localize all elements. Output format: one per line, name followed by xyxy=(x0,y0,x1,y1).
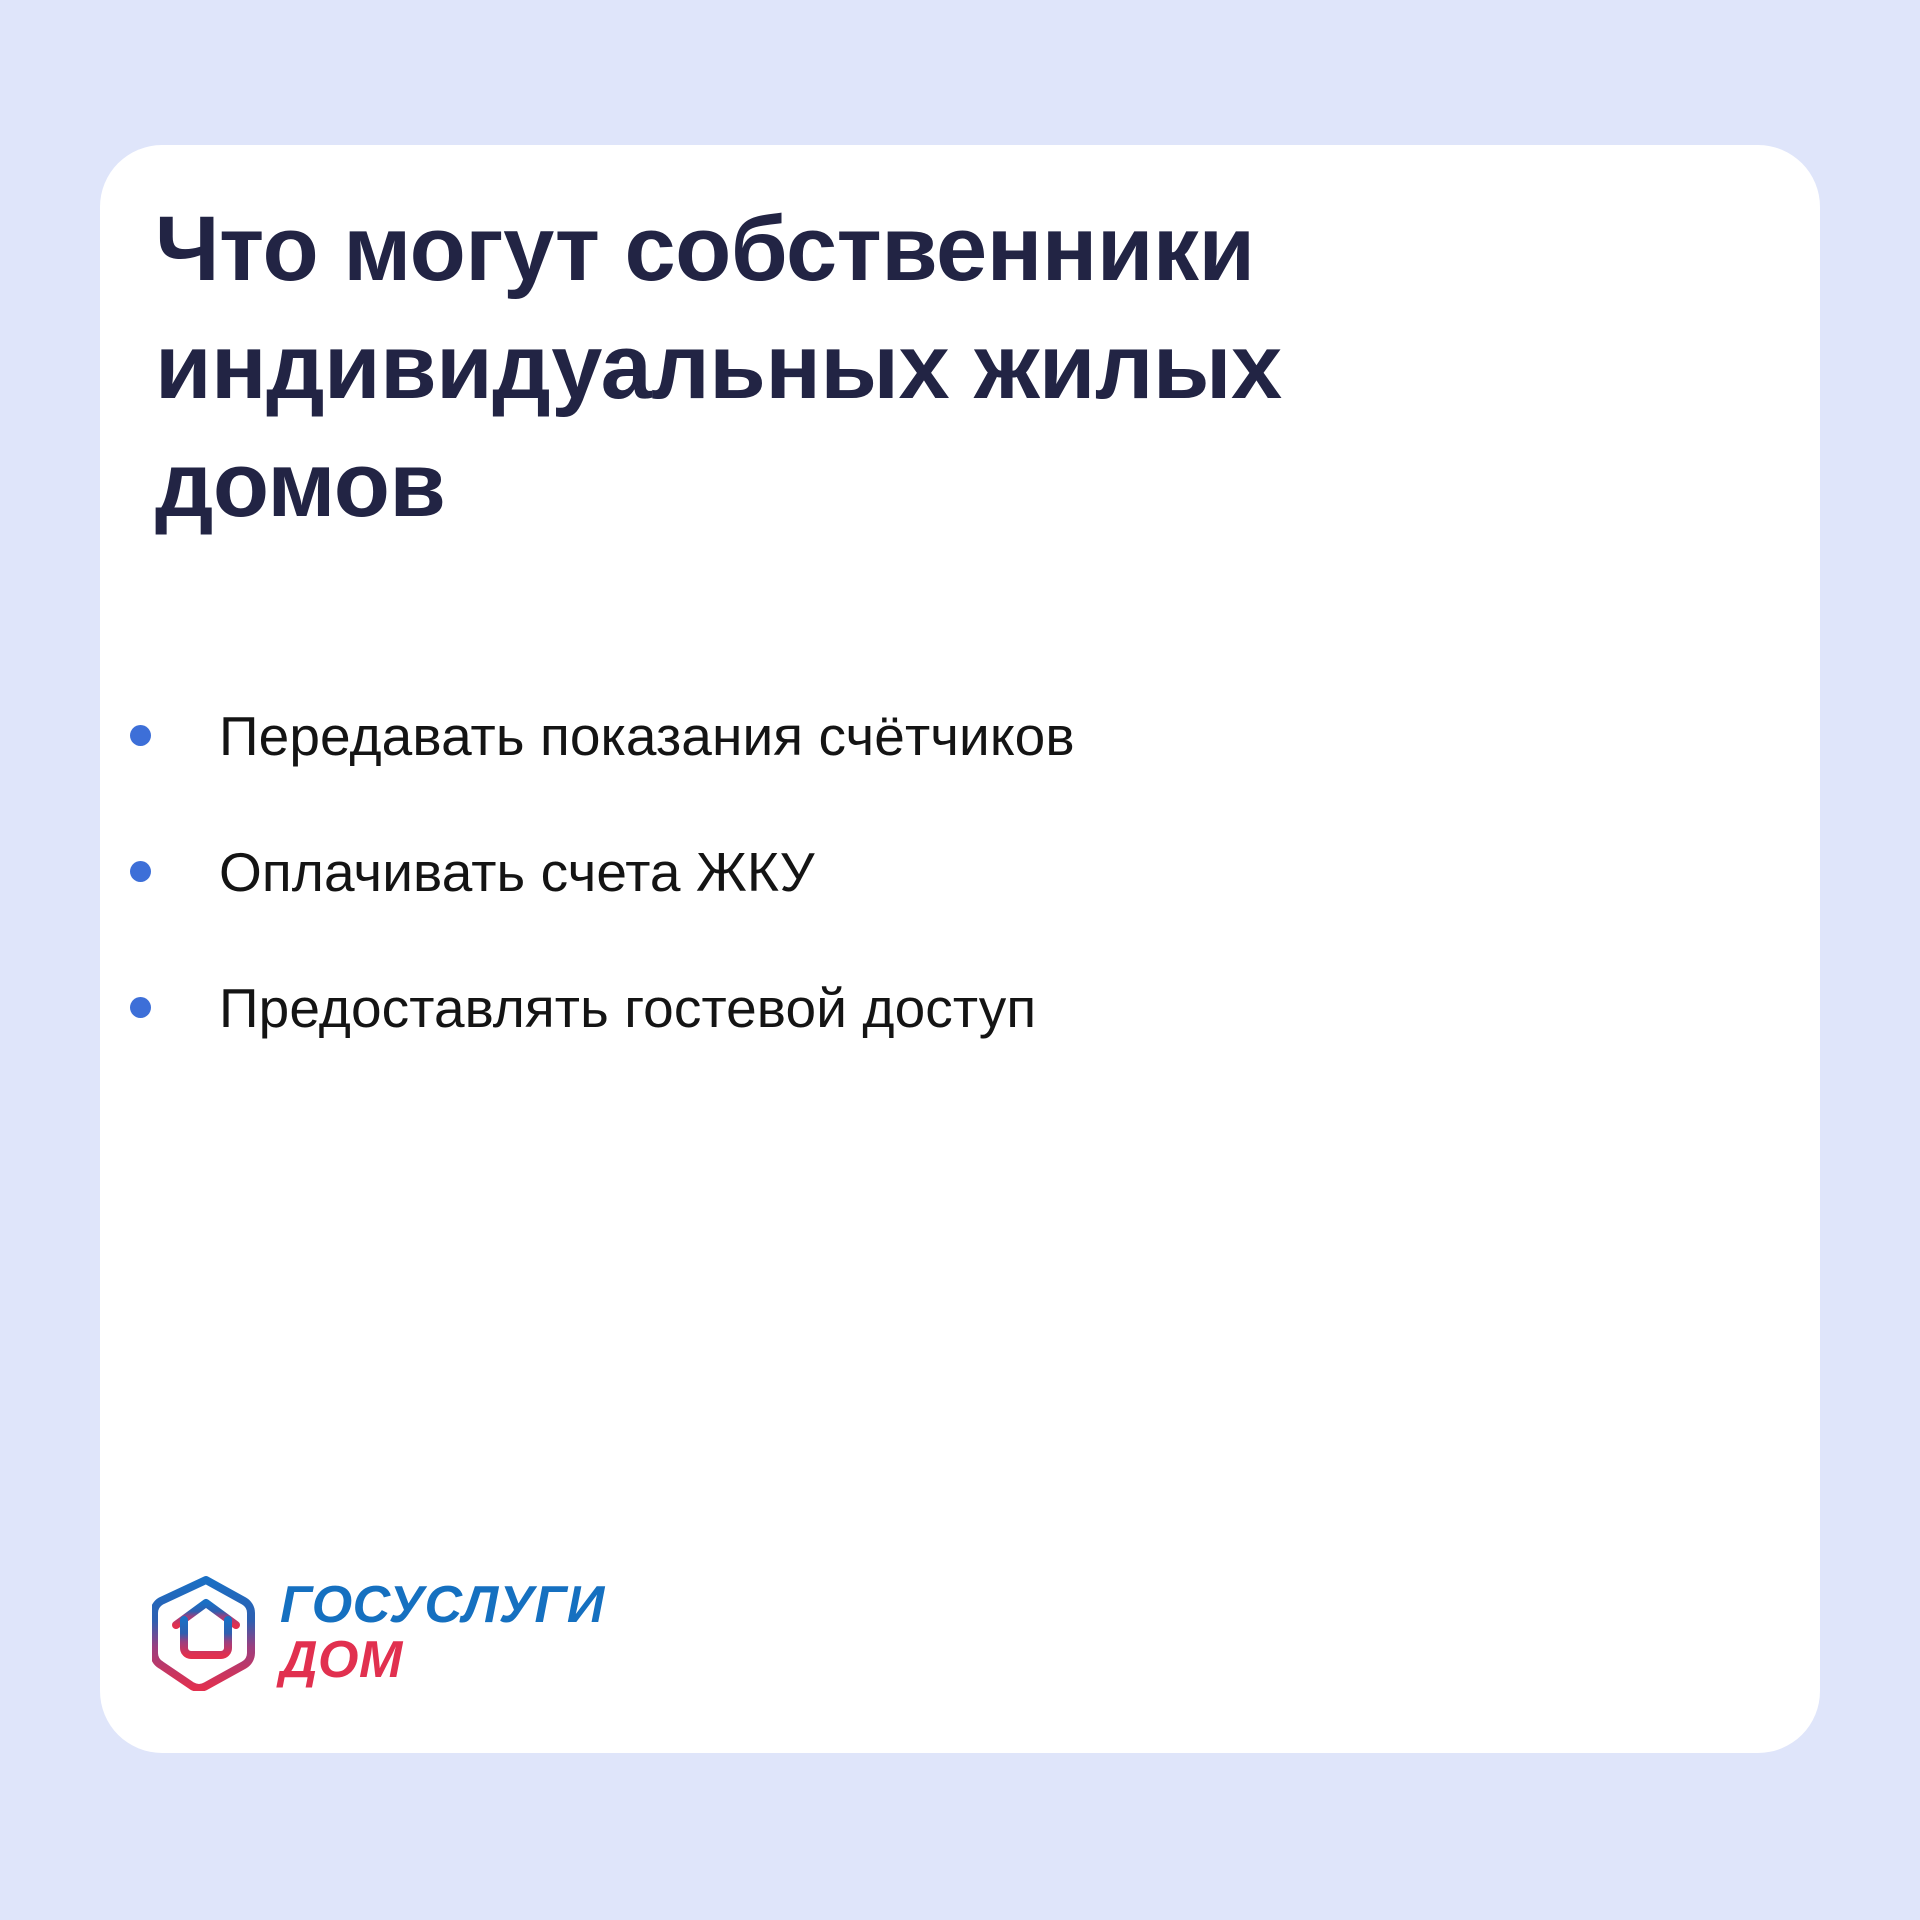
list-item-label: Оплачивать счета ЖКУ xyxy=(219,841,1630,903)
content-card: Что могут собственники индивидуальных жи… xyxy=(100,145,1820,1753)
list-item-label: Предоставлять гостевой доступ xyxy=(219,977,1630,1039)
brand-logo: Госуслуги Дом xyxy=(152,1575,605,1691)
bullet-dot-icon xyxy=(130,997,151,1018)
list-item: Оплачивать счета ЖКУ xyxy=(130,841,1630,903)
list-item-label: Передавать показания счётчиков xyxy=(219,705,1630,767)
poster-canvas: Что могут собственники индивидуальных жи… xyxy=(0,0,1920,1920)
page-title: Что могут собственники индивидуальных жи… xyxy=(155,190,1555,544)
list-item: Передавать показания счётчиков xyxy=(130,705,1630,767)
house-hexagon-icon xyxy=(152,1575,260,1691)
brand-word-dom: Дом xyxy=(280,1633,605,1688)
list-item: Предоставлять гостевой доступ xyxy=(130,977,1630,1039)
brand-word-gosuslugi: Госуслуги xyxy=(280,1578,605,1633)
bullet-dot-icon xyxy=(130,725,151,746)
bullet-dot-icon xyxy=(130,861,151,882)
brand-wordmark: Госуслуги Дом xyxy=(280,1578,605,1688)
benefits-list: Передавать показания счётчиков Оплачиват… xyxy=(130,705,1630,1039)
